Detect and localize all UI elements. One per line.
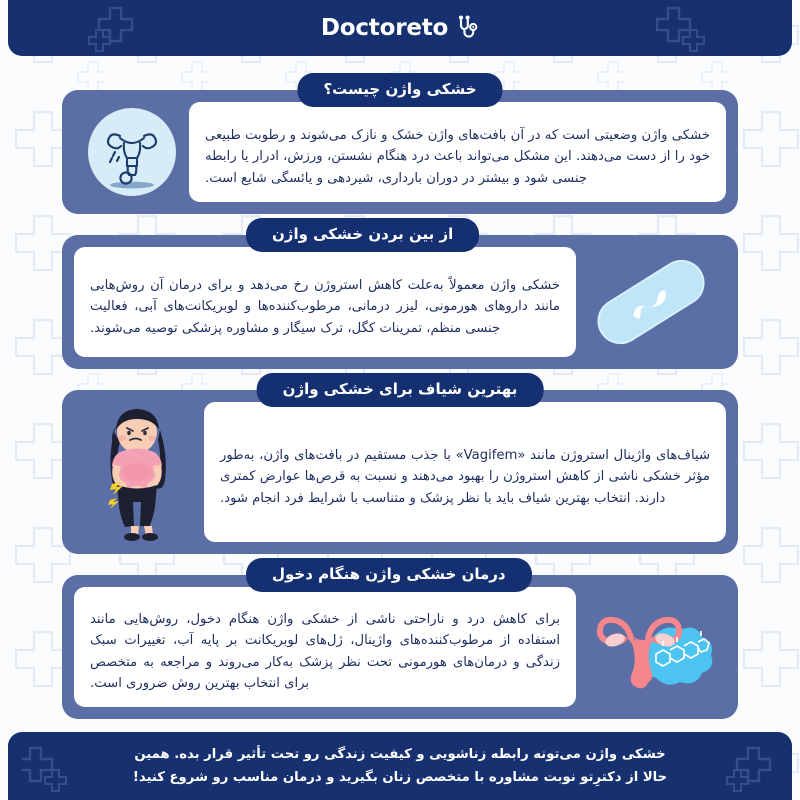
card-body-text: شیاف‌های واژینال استروژن مانند «Vagifem»…	[220, 445, 710, 509]
brand-name: Doctoreto	[321, 15, 448, 41]
card-what-is-vaginal-dryness: خشکی واژن چیست؟ خشکی واژن وضعیتی است که …	[62, 90, 738, 214]
card-title: درمان خشکی واژن هنگام دخول	[246, 558, 532, 592]
uterus-circle-icon	[74, 102, 189, 202]
card-body-text: خشکی واژن وضعیتی است که در آن بافت‌های و…	[205, 125, 710, 189]
uterus-molecule-illustration	[576, 587, 726, 707]
card-panel: برای کاهش درد و ناراحتی ناشی از خشکی واژ…	[74, 587, 576, 707]
card-panel: خشکی واژن معمولاً به‌علت کاهش استروژن رخ…	[74, 247, 576, 357]
footer-cross-decoration-left	[22, 732, 132, 800]
card-best-suppository: بهترین شیاف برای خشکی واژن	[62, 390, 738, 554]
footer-cross-decoration-right	[668, 732, 778, 800]
card-title: از بین بردن خشکی واژن	[246, 218, 479, 252]
sanitary-pad-icon	[576, 247, 726, 357]
woman-pain-illustration	[74, 402, 204, 542]
card-title: بهترین شیاف برای خشکی واژن	[257, 373, 544, 407]
card-eliminating-vaginal-dryness: از بین بردن خشکی واژن خشکی واژن معمولاً …	[62, 235, 738, 369]
cards-container: خشکی واژن چیست؟ خشکی واژن وضعیتی است که …	[0, 56, 800, 719]
card-treatment-during-intercourse: درمان خشکی واژن هنگام دخول	[62, 575, 738, 719]
card-panel: خشکی واژن وضعیتی است که در آن بافت‌های و…	[189, 102, 726, 202]
brand-logo[interactable]: Doctoreto	[321, 15, 479, 41]
card-body-text: خشکی واژن معمولاً به‌علت کاهش استروژن رخ…	[90, 275, 560, 339]
card-title: خشکی واژن چیست؟	[297, 73, 502, 107]
header-cross-decoration-left	[26, 0, 146, 56]
page-header: Doctoreto	[8, 0, 792, 56]
header-cross-decoration-right	[654, 0, 774, 56]
card-panel: شیاف‌های واژینال استروژن مانند «Vagifem»…	[204, 402, 726, 542]
footer-cta-text: خشکی واژن می‌تونه رابطه زناشویی و کیفیت …	[120, 743, 680, 789]
page-footer: خشکی واژن می‌تونه رابطه زناشویی و کیفیت …	[8, 732, 792, 800]
stethoscope-icon	[455, 15, 479, 41]
card-body-text: برای کاهش درد و ناراحتی ناشی از خشکی واژ…	[90, 609, 560, 695]
